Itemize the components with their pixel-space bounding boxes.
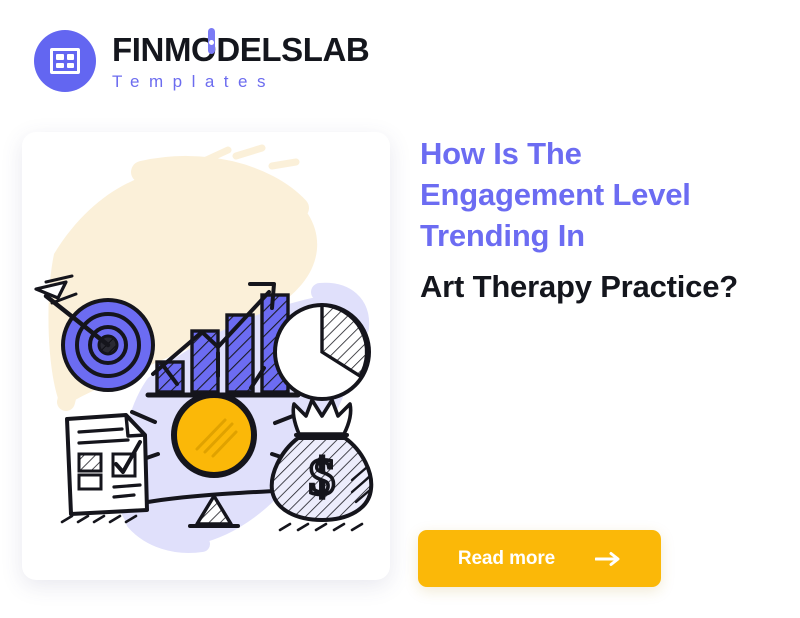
arrow-right-icon bbox=[595, 551, 621, 567]
document-checklist-icon bbox=[62, 415, 147, 522]
brand-logo[interactable]: FINMODELSLAB Templates bbox=[34, 30, 369, 92]
brand-tagline: Templates bbox=[112, 73, 369, 90]
headline-emphasis: Art Therapy Practice? bbox=[420, 266, 770, 307]
promo-banner: FINMODELSLAB Templates bbox=[0, 0, 800, 618]
read-more-label: Read more bbox=[458, 548, 555, 570]
analytics-illustration: $ bbox=[22, 132, 390, 580]
brand-name: FINMODELSLAB bbox=[112, 33, 369, 66]
grid-squares-icon bbox=[34, 30, 96, 92]
headline: How Is The Engagement Level Trending In … bbox=[420, 133, 770, 307]
illustration-card: $ bbox=[22, 132, 390, 580]
brand-text: FINMODELSLAB Templates bbox=[112, 33, 369, 90]
read-more-button[interactable]: Read more bbox=[418, 530, 661, 587]
pie-chart-icon bbox=[275, 305, 369, 399]
svg-text:$: $ bbox=[309, 449, 335, 506]
headline-highlight: How Is The Engagement Level Trending In bbox=[420, 133, 770, 257]
brand-name-label: FINMODELSLAB bbox=[112, 31, 369, 68]
map-pin-icon bbox=[208, 28, 215, 54]
